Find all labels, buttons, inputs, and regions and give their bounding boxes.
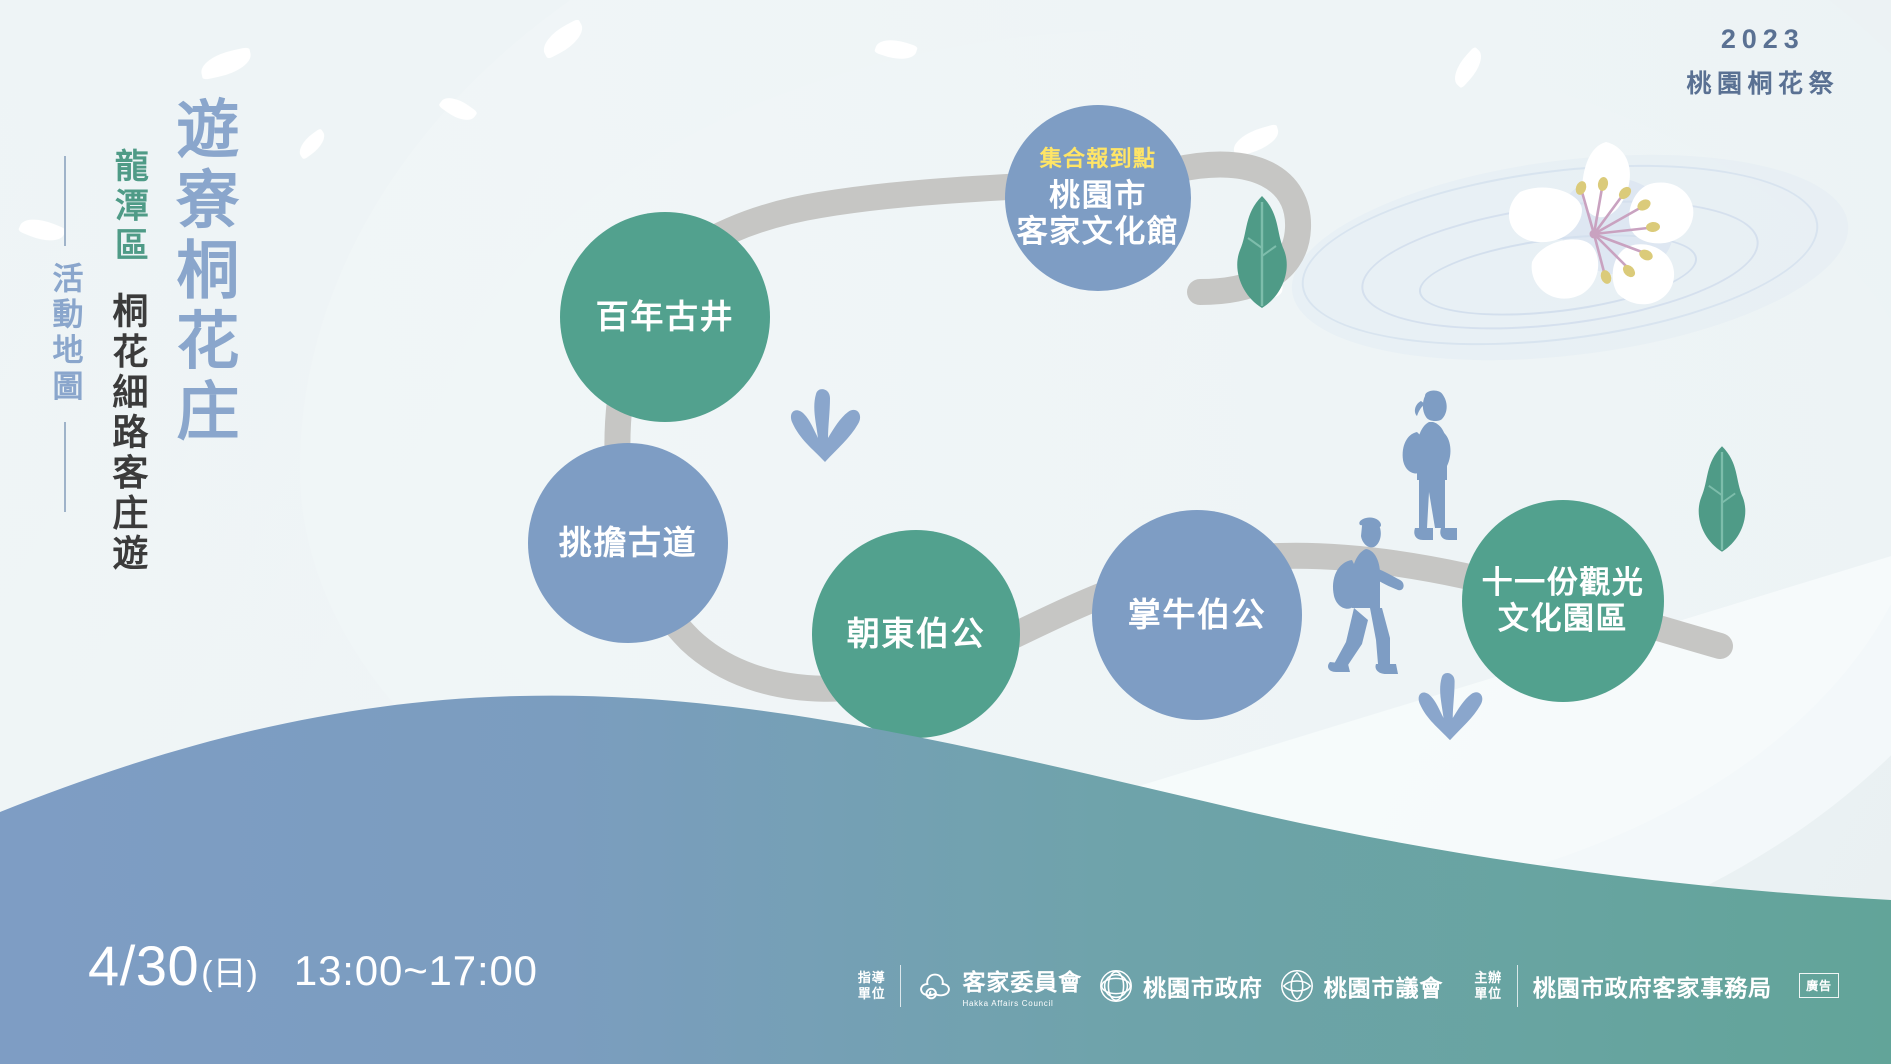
station-label-line1: 挑擔古道 — [559, 524, 698, 562]
station-label-line1: 掌牛伯公 — [1128, 596, 1267, 634]
title-subcolumn: 龍潭區 桐花細路客庄遊 — [107, 96, 146, 575]
footer-wave-band — [0, 694, 1891, 1064]
station-century-well[interactable]: 百年古井 — [560, 212, 770, 422]
org-hakka-affairs-department: 桃園市政府客家事務局 — [1533, 969, 1772, 1003]
org-name: 桃園市政府 — [1143, 969, 1263, 1003]
taoyuan-city-government-logo-icon — [1097, 967, 1135, 1005]
org-taoyuan-city-council: 桃園市議會 — [1278, 967, 1444, 1005]
credits-divider-1 — [900, 965, 901, 1007]
map-label-column: 活動地圖 — [48, 96, 81, 512]
station-label-line2: 文化園區 — [1498, 601, 1628, 637]
leaf-teal-1 — [1228, 192, 1296, 312]
taoyuan-city-council-logo-icon — [1278, 967, 1316, 1005]
map-label: 活動地圖 — [48, 262, 81, 406]
guidance-unit-label: 指導單位 — [858, 970, 886, 1001]
org-name: 客家委員會Hakka Affairs Council — [962, 963, 1082, 1008]
org-name: 桃園市政府客家事務局 — [1533, 969, 1772, 1003]
credits-divider-2 — [1517, 965, 1518, 1007]
station-zhangniu-bogong[interactable]: 掌牛伯公 — [1092, 510, 1302, 720]
divider-bottom — [64, 422, 66, 512]
org-hakka-affairs-council: 客家委員會Hakka Affairs Council — [916, 963, 1082, 1008]
bush-blue-1 — [782, 388, 868, 464]
title-subtitle: 桐花細路客庄遊 — [107, 292, 146, 574]
organizer-unit-label: 主辦單位 — [1474, 970, 1502, 1001]
org-name: 桃園市議會 — [1324, 969, 1444, 1003]
station-shiyifen-culture-park[interactable]: 十一份觀光 文化園區 — [1462, 500, 1664, 702]
hakka-cloud-logo-icon — [916, 967, 954, 1005]
station-label-line1: 桃園市 — [1049, 178, 1147, 214]
guidance-unit-line1: 指導單位 — [858, 970, 886, 1001]
organizer-unit-line1: 主辦單位 — [1474, 970, 1502, 1001]
station-badge: 集合報到點 — [1040, 146, 1157, 172]
festival-header: 2023 桃園桐花祭 — [1686, 24, 1839, 100]
station-meeting-point[interactable]: 集合報到點 桃園市 客家文化館 — [1005, 105, 1191, 291]
station-label-line1: 朝東伯公 — [847, 615, 986, 653]
district-label: 龍潭區 — [107, 148, 146, 266]
advertisement-badge: 廣告 — [1799, 973, 1839, 998]
sponsor-credits: 指導單位 客家委員會Hakka Affairs Council — [858, 963, 1839, 1008]
org-taoyuan-city-government: 桃園市政府 — [1097, 967, 1263, 1005]
tung-blossom-icon — [1490, 130, 1710, 320]
poster-canvas: 遊寮桐花庄 龍潭區 桐花細路客庄遊 活動地圖 2023 桃園桐花祭 集合報到點 … — [0, 0, 1891, 1064]
station-carrying-pole-trail[interactable]: 挑擔古道 — [528, 443, 728, 643]
event-datetime: 4/30 (日) 13:00~17:00 — [88, 933, 538, 998]
page-title: 遊寮桐花庄 — [168, 96, 236, 449]
station-label-line2: 客家文化館 — [1017, 214, 1180, 250]
event-weekday: (日) — [201, 946, 258, 995]
festival-name: 桃園桐花祭 — [1686, 64, 1839, 100]
festival-year: 2023 — [1686, 24, 1839, 55]
hiker-female-backpack — [1395, 388, 1471, 558]
event-time: 13:00~17:00 — [294, 947, 538, 995]
hiker-male-backpack — [1320, 516, 1406, 676]
event-date: 4/30 — [88, 933, 199, 998]
station-label-line1: 百年古井 — [596, 298, 735, 336]
poster-title-block: 遊寮桐花庄 龍潭區 桐花細路客庄遊 活動地圖 — [48, 96, 240, 575]
divider-top — [64, 156, 66, 246]
leaf-teal-2 — [1690, 440, 1754, 558]
station-label-line1: 十一份觀光 — [1482, 565, 1645, 601]
